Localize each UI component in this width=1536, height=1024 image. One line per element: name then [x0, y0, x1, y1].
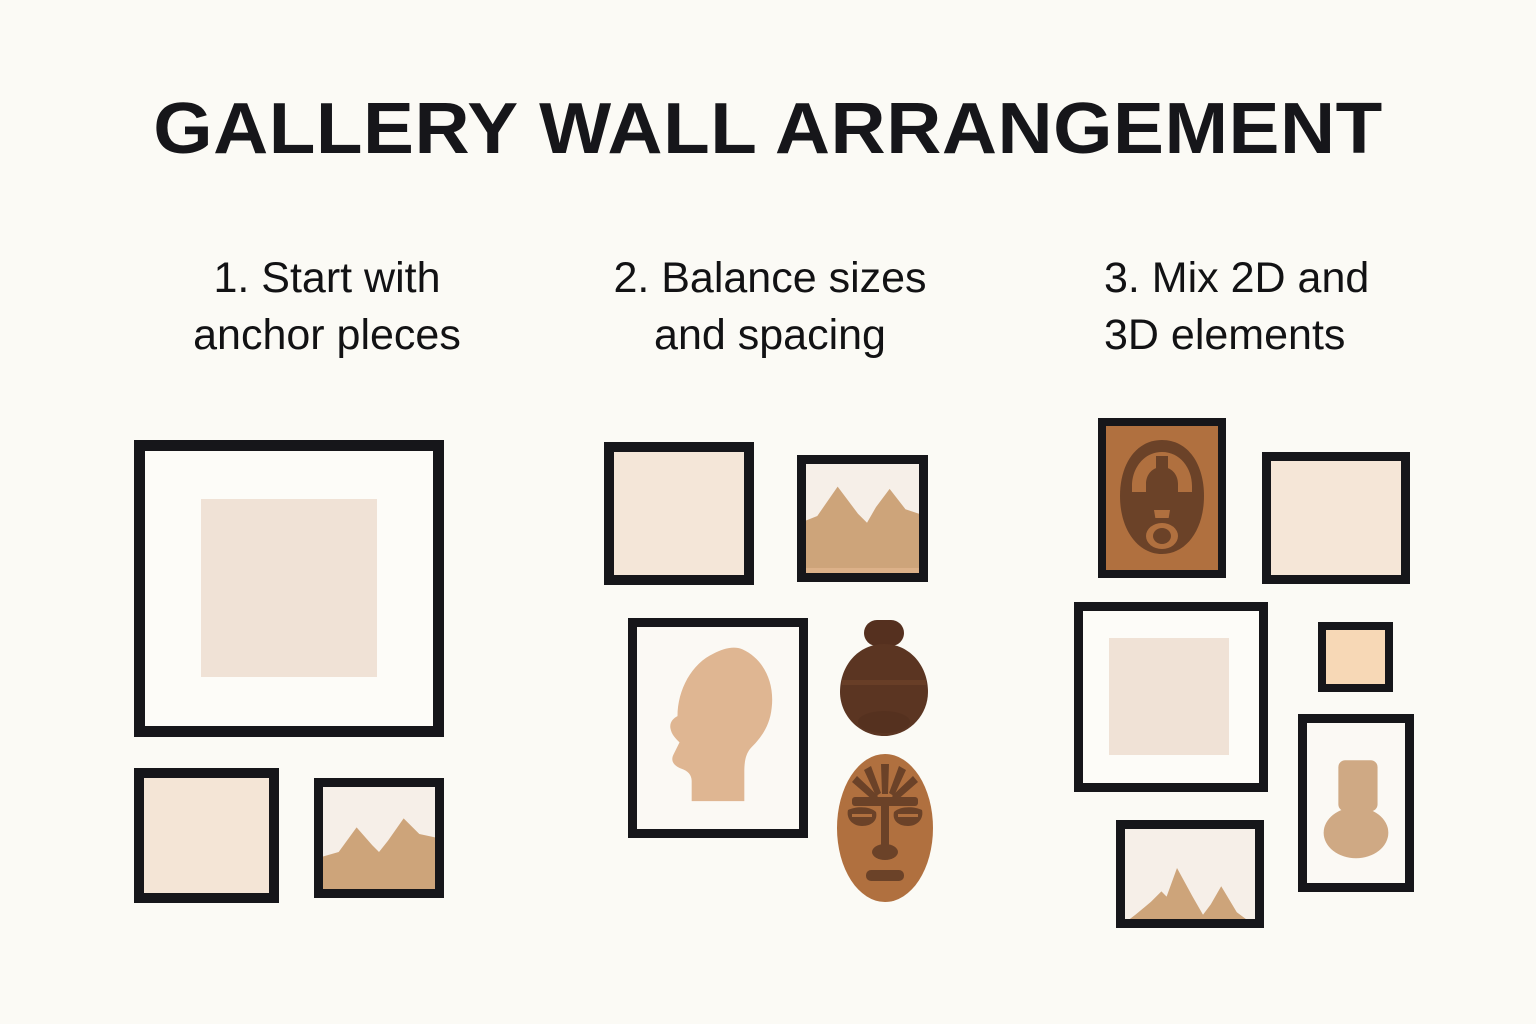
art-solid-cream: [614, 452, 744, 575]
tribal-mask-icon: [834, 752, 936, 904]
art-solid-cream: [144, 778, 269, 893]
object-tribal-mask: [834, 752, 936, 904]
art-mask-graphic: [1106, 426, 1218, 570]
vase-icon: [834, 618, 934, 740]
mat: [1083, 611, 1259, 783]
infographic-canvas: GALLERY WALL ARRANGEMENT 1. Start with a…: [0, 0, 1536, 1024]
frame-col2-solid[interactable]: [604, 442, 754, 585]
art-mountains: [806, 464, 919, 573]
art-solid-cream: [201, 499, 377, 677]
frame-small-solid[interactable]: [134, 768, 279, 903]
page-title: GALLERY WALL ARRANGEMENT: [0, 88, 1536, 170]
object-ceramic-vase: [834, 618, 934, 740]
art-mountains: [323, 787, 435, 889]
mountains-icon: [323, 787, 435, 889]
mat: [145, 451, 433, 726]
frame-vessel-sculpture[interactable]: [1298, 714, 1414, 892]
art-head-profile: [637, 627, 799, 829]
art-mountains: [1125, 829, 1255, 919]
art-vessel-sculpture: [1307, 723, 1405, 883]
column-heading-3: 3. Mix 2D and 3D elements: [1104, 250, 1504, 364]
frame-profile-portrait[interactable]: [628, 618, 808, 838]
frame-large-anchor[interactable]: [134, 440, 444, 737]
frame-mask-artwork[interactable]: [1098, 418, 1226, 578]
column-heading-1: 1. Start with anchor pleces: [112, 250, 542, 364]
vessel-icon: [1307, 723, 1405, 880]
frame-small-mountain[interactable]: [314, 778, 444, 898]
art-solid-beige: [1109, 638, 1229, 755]
art-solid-cream: [1271, 461, 1401, 575]
head-profile-icon: [637, 627, 799, 829]
mask-graphic-icon: [1106, 426, 1218, 570]
frame-solid-square[interactable]: [1262, 452, 1410, 584]
frame-large-matted[interactable]: [1074, 602, 1268, 792]
art-solid-peach: [1326, 630, 1385, 684]
frame-mountain-bottom[interactable]: [1116, 820, 1264, 928]
frame-col2-mountain[interactable]: [797, 455, 928, 582]
mountains-icon: [806, 464, 919, 573]
column-heading-2: 2. Balance sizes and spacing: [565, 250, 975, 364]
mountains-icon: [1125, 829, 1255, 919]
frame-tiny-peach[interactable]: [1318, 622, 1393, 692]
